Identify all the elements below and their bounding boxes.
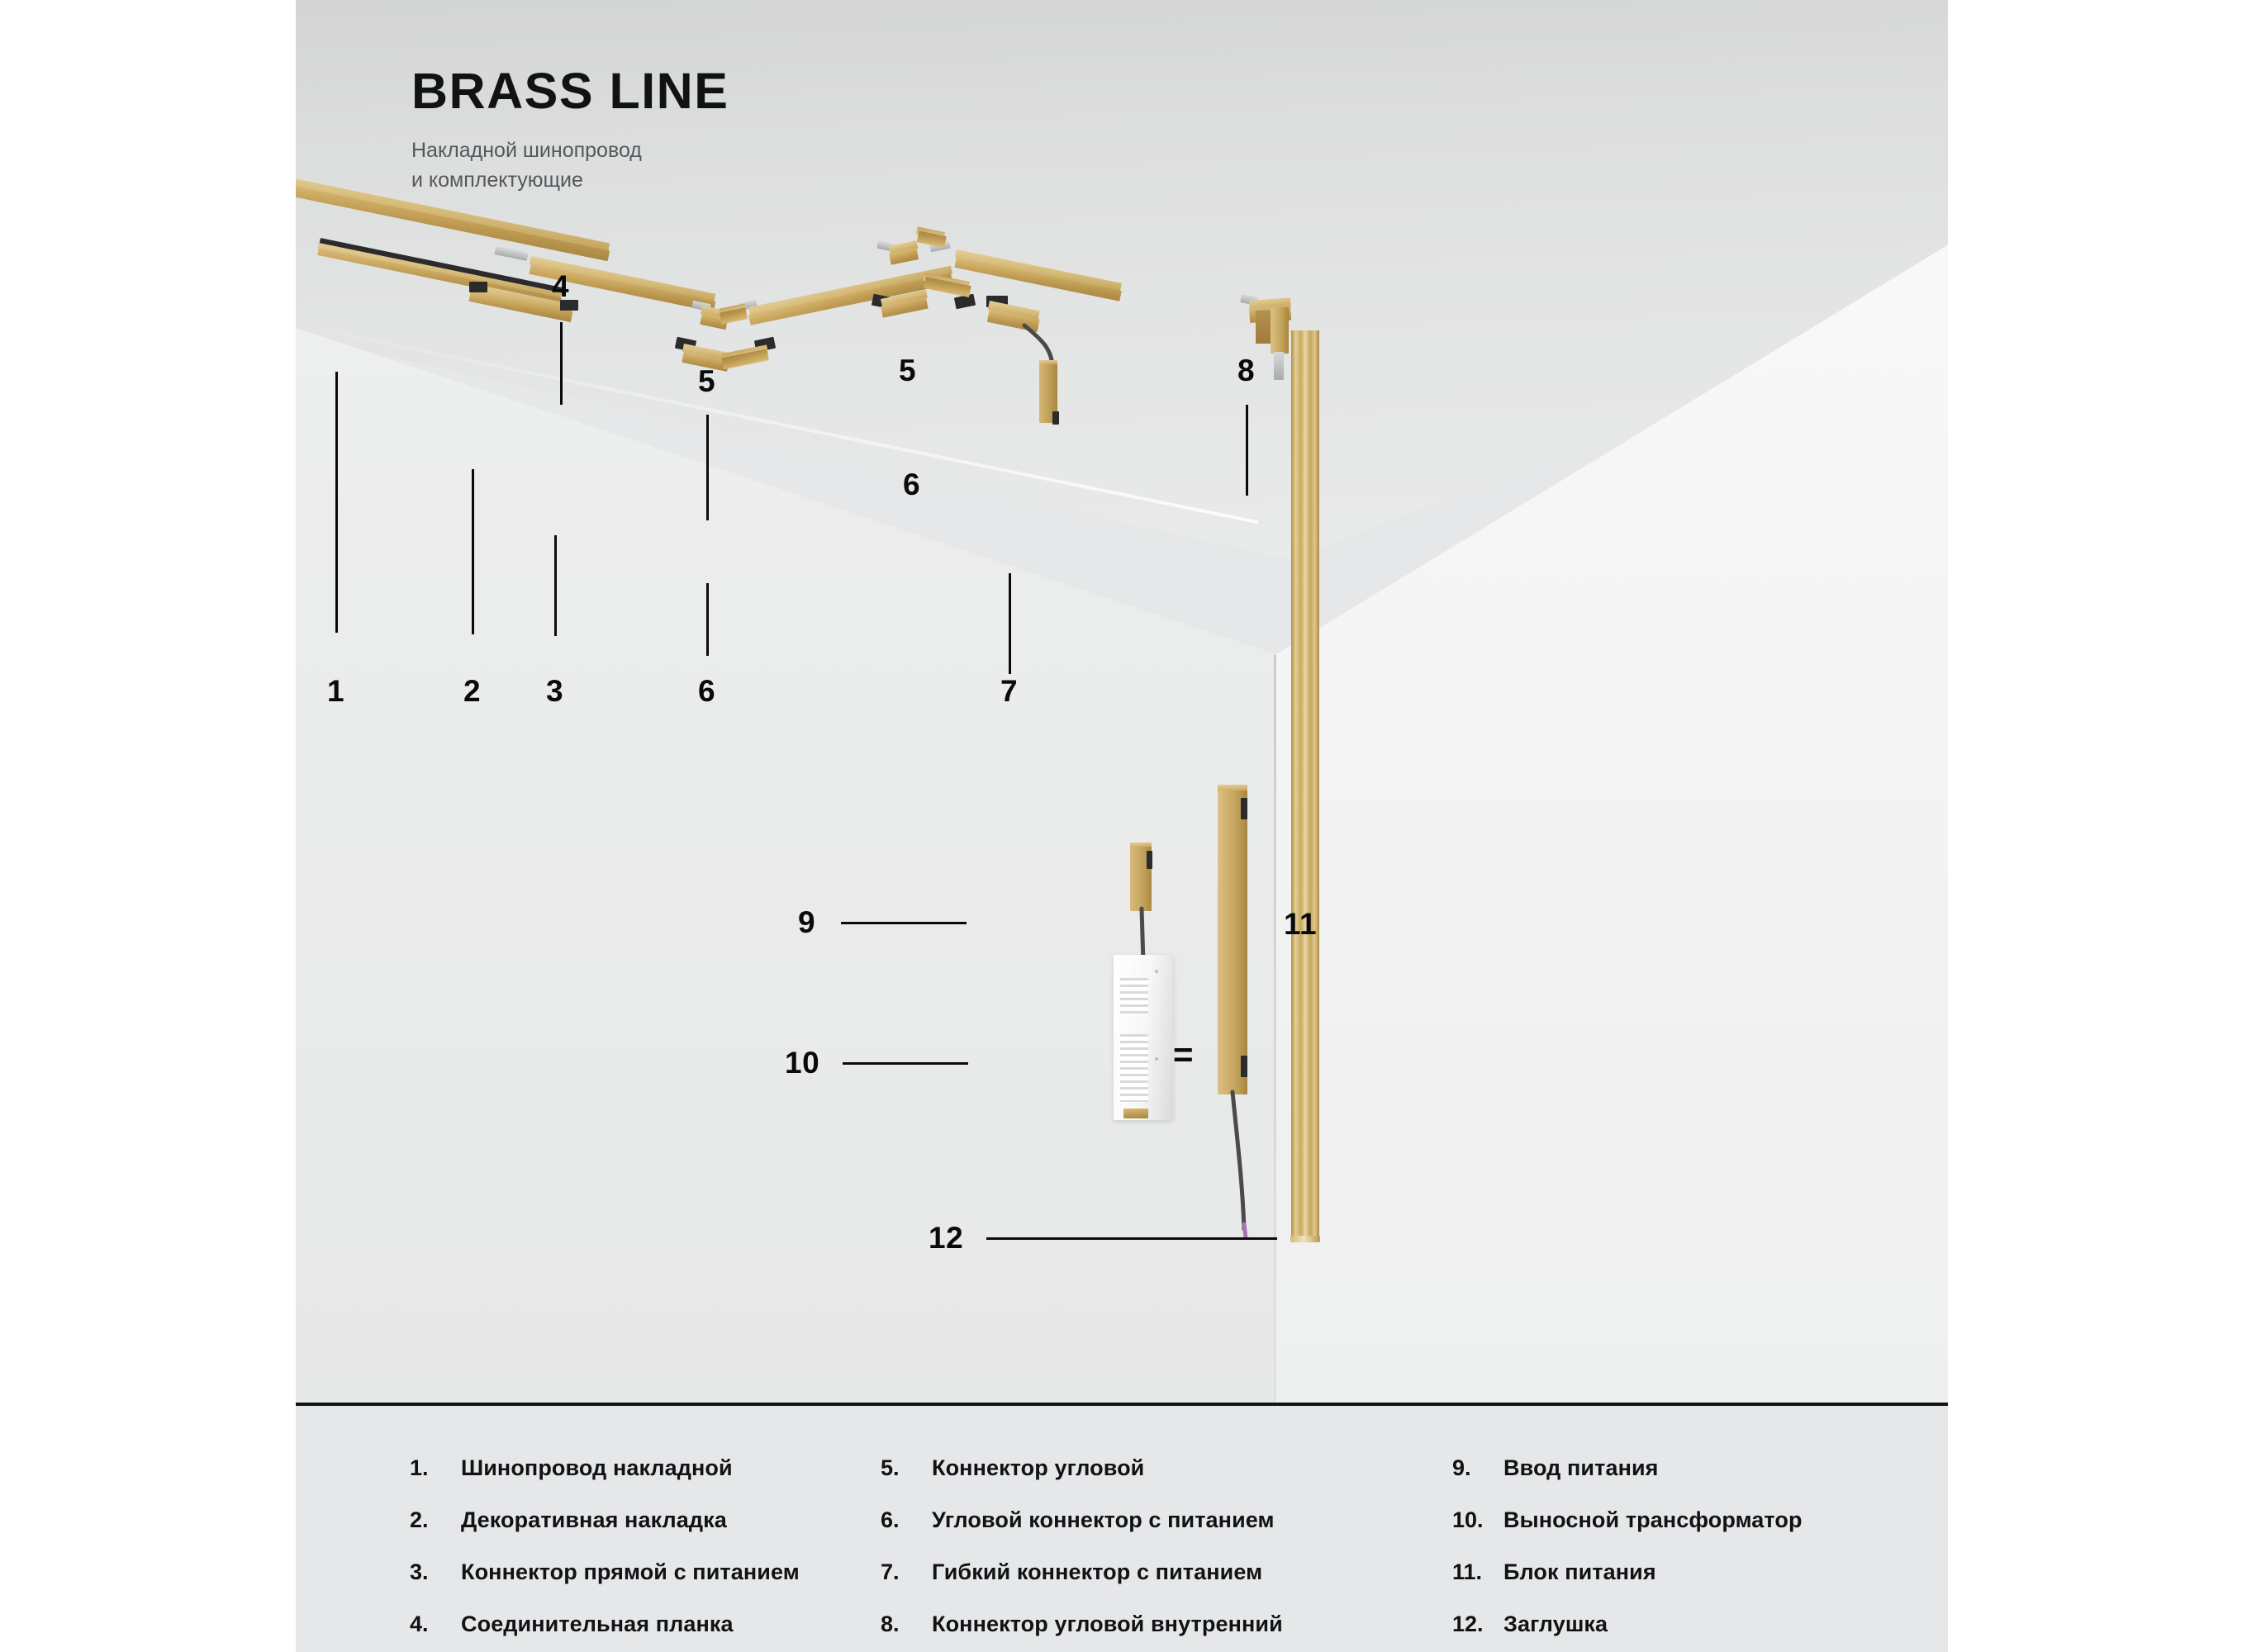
legend-item[interactable]: 10. Выносной трансформатор xyxy=(1452,1507,1948,1533)
legend-item-number: 11. xyxy=(1452,1559,1503,1585)
wall-corner-seam xyxy=(1274,655,1276,1403)
legend-item[interactable]: 6. Угловой коннектор с питанием xyxy=(881,1507,1427,1533)
legend-item-number: 9. xyxy=(1452,1455,1503,1481)
legend-item-label: Декоративная накладка xyxy=(461,1507,727,1533)
legend-item-number: 2. xyxy=(410,1507,461,1533)
track-rail-right xyxy=(957,249,1127,264)
header-block: BRASS LINE Накладной шинопровод и компле… xyxy=(411,66,729,195)
callout-number-2: 2 xyxy=(463,676,481,706)
legend-item-label: Соединительная планка xyxy=(461,1612,734,1637)
leader-line-9 xyxy=(841,922,967,924)
legend-item[interactable]: 1. Шинопровод накладной xyxy=(410,1455,857,1481)
callout-number-4: 4 xyxy=(552,271,569,301)
leader-line-2 xyxy=(472,469,474,634)
supply-cable-icon xyxy=(1226,1092,1292,1241)
legend-column-2: 5. Коннектор угловой 6. Угловой коннекто… xyxy=(857,1455,1427,1652)
callout-number-9: 9 xyxy=(798,907,815,938)
legend-item[interactable]: 12. Заглушка xyxy=(1452,1612,1948,1637)
legend-item-number: 5. xyxy=(881,1455,932,1481)
callout-number-3: 3 xyxy=(546,676,563,706)
vent-slots-lower xyxy=(1120,1034,1148,1102)
legend-item[interactable]: 9. Ввод питания xyxy=(1452,1455,1948,1481)
leader-line-8 xyxy=(1246,405,1248,496)
vent-slots-upper xyxy=(1120,978,1148,1014)
legend-item-number: 1. xyxy=(410,1455,461,1481)
legend-item-label: Коннектор угловой внутренний xyxy=(932,1612,1283,1637)
leader-line-4 xyxy=(560,322,563,405)
legend-section: 1. Шинопровод накладной 2. Декоративная … xyxy=(296,1406,1948,1652)
leader-line-6a xyxy=(706,583,709,656)
legend-item-number: 7. xyxy=(881,1559,932,1585)
subtitle-line-2: и комплектующие xyxy=(411,166,729,196)
callout-number-6b: 6 xyxy=(903,469,920,500)
callout-number-11: 11 xyxy=(1284,909,1317,939)
legend-item-number: 3. xyxy=(410,1559,461,1585)
legend-item-number: 8. xyxy=(881,1612,932,1637)
leader-line-1 xyxy=(335,372,338,633)
legend-item[interactable]: 7. Гибкий коннектор с питанием xyxy=(881,1559,1427,1585)
powered-corner-connector-6b xyxy=(874,273,975,316)
leader-line-12 xyxy=(986,1237,1277,1240)
legend-item-label: Шинопровод накладной xyxy=(461,1455,733,1481)
callout-number-7: 7 xyxy=(1000,676,1018,706)
equals-symbol: = xyxy=(1173,1037,1194,1072)
legend-item-label: Блок питания xyxy=(1503,1559,1656,1585)
callout-number-1: 1 xyxy=(327,676,344,706)
page-subtitle: Накладной шинопровод и комплектующие xyxy=(411,136,729,195)
room-scene: = 1 2 3 4 5 xyxy=(296,0,1948,1403)
legend-item[interactable]: 3. Коннектор прямой с питанием xyxy=(410,1559,857,1585)
corner-connector-5a xyxy=(697,299,753,335)
legend-item-label: Выносной трансформатор xyxy=(1503,1507,1803,1533)
callout-number-5b: 5 xyxy=(899,355,916,386)
corner-connector-5b xyxy=(884,238,945,274)
legend-item[interactable]: 4. Соединительная планка xyxy=(410,1612,857,1637)
legend-column-1: 1. Шинопровод накладной 2. Декоративная … xyxy=(296,1455,857,1652)
leader-line-5a xyxy=(706,415,709,520)
legend-item-number: 6. xyxy=(881,1507,932,1533)
powered-corner-connector-6a xyxy=(677,337,775,380)
vertical-brass-profile xyxy=(1291,330,1319,1239)
callout-number-5a: 5 xyxy=(698,366,715,396)
power-feed-in-9 xyxy=(1130,843,1163,966)
page-title: BRASS LINE xyxy=(411,66,729,116)
power-supply-block-11 xyxy=(1218,785,1254,1123)
legend-item-label: Гибкий коннектор с питанием xyxy=(932,1559,1262,1585)
subtitle-line-1: Накладной шинопровод xyxy=(411,136,729,166)
legend-item-number: 12. xyxy=(1452,1612,1503,1637)
legend-item[interactable]: 8. Коннектор угловой внутренний xyxy=(881,1612,1427,1637)
legend-item-label: Коннектор прямой с питанием xyxy=(461,1559,800,1585)
legend-item-number: 10. xyxy=(1452,1507,1503,1533)
legend-item-label: Заглушка xyxy=(1503,1612,1608,1637)
callout-number-10: 10 xyxy=(785,1047,819,1078)
leader-line-7 xyxy=(1009,573,1011,674)
decorative-cover-2 xyxy=(319,243,568,254)
callout-number-8: 8 xyxy=(1237,355,1255,386)
callout-number-12: 12 xyxy=(929,1222,963,1253)
callout-number-6a: 6 xyxy=(698,676,715,706)
legend-item-label: Ввод питания xyxy=(1503,1455,1659,1481)
legend-item-number: 4. xyxy=(410,1612,461,1637)
leader-line-3 xyxy=(554,535,557,636)
remote-transformer-10 xyxy=(1114,955,1173,1120)
poster-panel: = 1 2 3 4 5 xyxy=(296,0,1948,1652)
leader-line-10 xyxy=(843,1062,968,1065)
legend-item[interactable]: 11. Блок питания xyxy=(1452,1559,1948,1585)
flexible-power-connector-7 xyxy=(986,294,1110,418)
legend-item-label: Угловой коннектор с питанием xyxy=(932,1507,1275,1533)
legend-item[interactable]: 5. Коннектор угловой xyxy=(881,1455,1427,1481)
end-cap-12 xyxy=(1290,1236,1320,1242)
legend-item-label: Коннектор угловой xyxy=(932,1455,1144,1481)
legend-column-3: 9. Ввод питания 10. Выносной трансформат… xyxy=(1427,1455,1948,1652)
legend-item[interactable]: 2. Декоративная накладка xyxy=(410,1507,857,1533)
